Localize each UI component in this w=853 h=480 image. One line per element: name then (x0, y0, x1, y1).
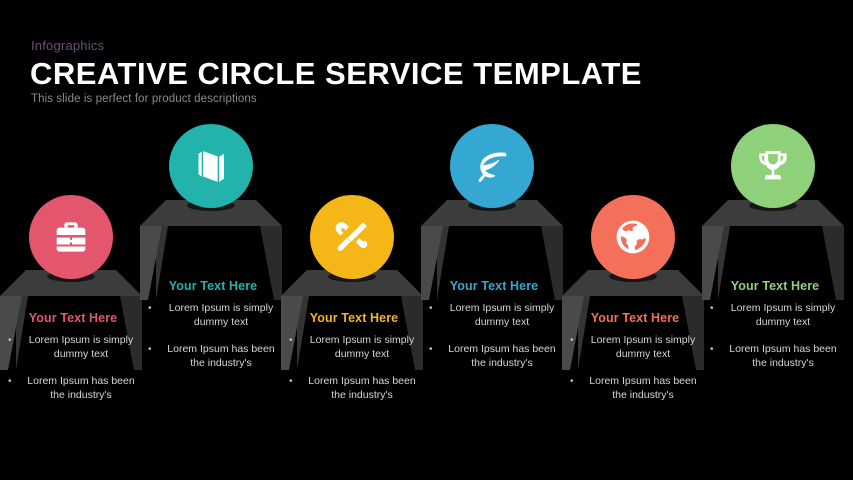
column-text-block: Your Text HereLorem Ipsum is simply dumm… (706, 279, 844, 384)
book-icon (191, 146, 231, 186)
bullet-item: Lorem Ipsum has been the industry's (566, 375, 704, 403)
infographic-column: Your Text HereLorem Ipsum is simply dumm… (421, 0, 563, 480)
bullet-item: Lorem Ipsum has been the industry's (4, 375, 142, 403)
service-circle-5[interactable] (591, 195, 675, 279)
leaf-icon (472, 146, 512, 186)
column-heading: Your Text Here (285, 311, 423, 325)
column-bullet-list: Lorem Ipsum is simply dummy textLorem Ip… (4, 334, 142, 403)
column-bullet-list: Lorem Ipsum is simply dummy textLorem Ip… (706, 302, 844, 371)
infographic-column: Your Text HereLorem Ipsum is simply dumm… (702, 0, 844, 480)
bullet-item: Lorem Ipsum is simply dummy text (285, 334, 423, 362)
bullet-item: Lorem Ipsum is simply dummy text (706, 302, 844, 330)
service-circle-1[interactable] (29, 195, 113, 279)
service-circle-2[interactable] (169, 124, 253, 208)
service-circle-3[interactable] (310, 195, 394, 279)
column-text-block: Your Text HereLorem Ipsum is simply dumm… (566, 311, 704, 416)
bullet-item: Lorem Ipsum has been the industry's (285, 375, 423, 403)
globe-icon (613, 217, 653, 257)
bullet-item: Lorem Ipsum is simply dummy text (4, 334, 142, 362)
briefcase-icon (51, 217, 91, 257)
column-text-block: Your Text HereLorem Ipsum is simply dumm… (4, 311, 142, 416)
infographic-column: Your Text HereLorem Ipsum is simply dumm… (140, 0, 282, 480)
tools-icon (332, 217, 372, 257)
column-heading: Your Text Here (706, 279, 844, 293)
bullet-item: Lorem Ipsum has been the industry's (144, 343, 282, 371)
bullet-item: Lorem Ipsum is simply dummy text (425, 302, 563, 330)
column-heading: Your Text Here (425, 279, 563, 293)
bullet-item: Lorem Ipsum has been the industry's (425, 343, 563, 371)
column-text-block: Your Text HereLorem Ipsum is simply dumm… (425, 279, 563, 384)
service-circle-6[interactable] (731, 124, 815, 208)
bullet-item: Lorem Ipsum is simply dummy text (144, 302, 282, 330)
infographic-column: Your Text HereLorem Ipsum is simply dumm… (281, 0, 423, 480)
column-heading: Your Text Here (144, 279, 282, 293)
column-text-block: Your Text HereLorem Ipsum is simply dumm… (144, 279, 282, 384)
column-bullet-list: Lorem Ipsum is simply dummy textLorem Ip… (425, 302, 563, 371)
infographic-column: Your Text HereLorem Ipsum is simply dumm… (562, 0, 704, 480)
bullet-item: Lorem Ipsum has been the industry's (706, 343, 844, 371)
column-bullet-list: Lorem Ipsum is simply dummy textLorem Ip… (144, 302, 282, 371)
slide-canvas: Infographics CREATIVE CIRCLE SERVICE TEM… (0, 0, 853, 480)
column-heading: Your Text Here (4, 311, 142, 325)
trophy-icon (753, 146, 793, 186)
bullet-item: Lorem Ipsum is simply dummy text (566, 334, 704, 362)
infographic-column: Your Text HereLorem Ipsum is simply dumm… (0, 0, 142, 480)
column-bullet-list: Lorem Ipsum is simply dummy textLorem Ip… (285, 334, 423, 403)
service-circle-4[interactable] (450, 124, 534, 208)
column-bullet-list: Lorem Ipsum is simply dummy textLorem Ip… (566, 334, 704, 403)
column-heading: Your Text Here (566, 311, 704, 325)
column-text-block: Your Text HereLorem Ipsum is simply dumm… (285, 311, 423, 416)
